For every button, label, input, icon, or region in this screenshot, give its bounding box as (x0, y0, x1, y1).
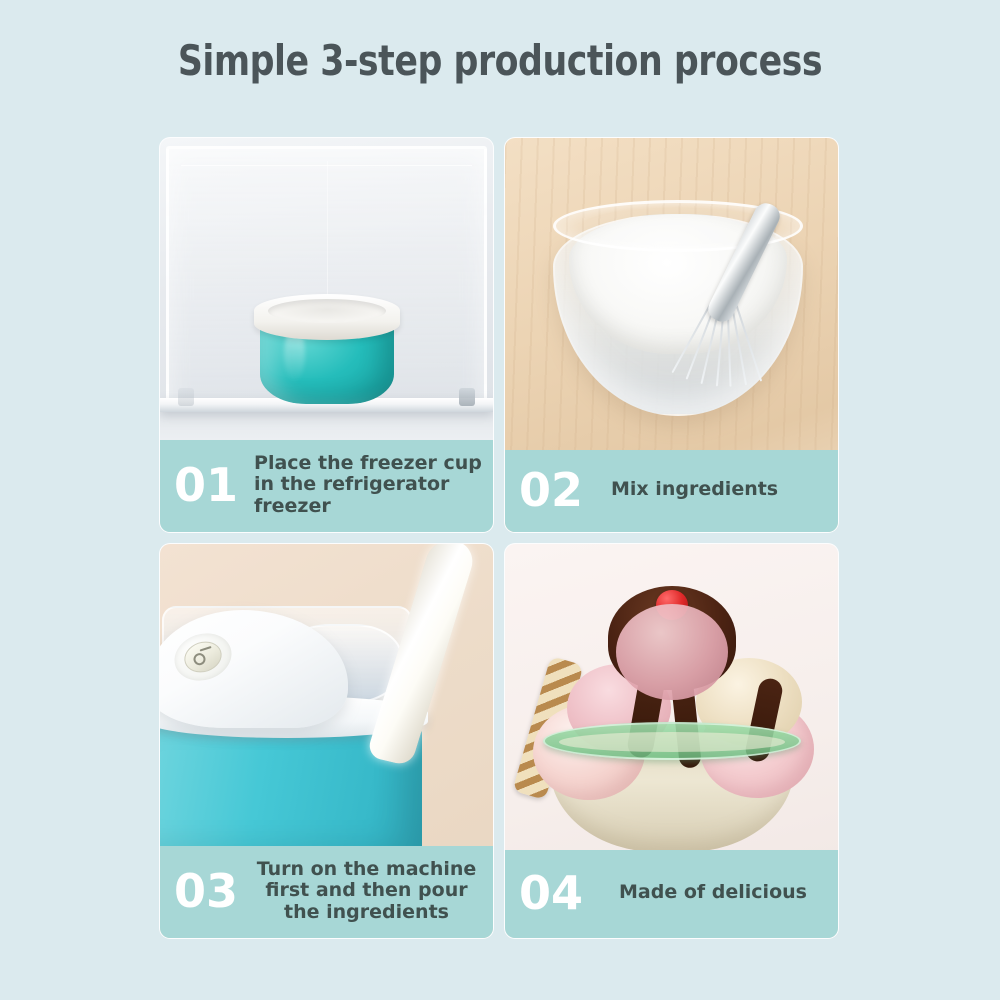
step-number-03: 03 (174, 868, 238, 914)
step-number-01: 01 (174, 462, 238, 508)
step-text-04: Made of delicious (619, 882, 807, 903)
step-text-03: Turn on the machine first and then pour … (250, 859, 483, 923)
freezer-cup-icon (254, 286, 400, 404)
step-caption-02: 02 Mix ingredients (505, 450, 838, 532)
step-card-01[interactable]: 01 Place the freezer cup in the refriger… (160, 138, 493, 532)
step-text-01: Place the freezer cup in the refrigerato… (254, 453, 483, 517)
glass-bowl-icon (553, 200, 803, 416)
step-card-04[interactable]: 04 Made of delicious (505, 544, 838, 938)
step-text-02: Mix ingredients (611, 479, 778, 500)
step-card-03[interactable]: 03 Turn on the machine first and then po… (160, 544, 493, 938)
ice-cream-scoop (616, 604, 728, 700)
step-number-04: 04 (519, 870, 583, 916)
steps-grid: 01 Place the freezer cup in the refriger… (160, 138, 838, 950)
step-number-02: 02 (519, 467, 583, 513)
step-caption-03: 03 Turn on the machine first and then po… (160, 846, 493, 938)
step-caption-01: 01 Place the freezer cup in the refriger… (160, 440, 493, 532)
page-title: Simple 3-step production process (40, 36, 960, 85)
step-card-02[interactable]: 02 Mix ingredients (505, 138, 838, 532)
step-caption-04: 04 Made of delicious (505, 850, 838, 938)
